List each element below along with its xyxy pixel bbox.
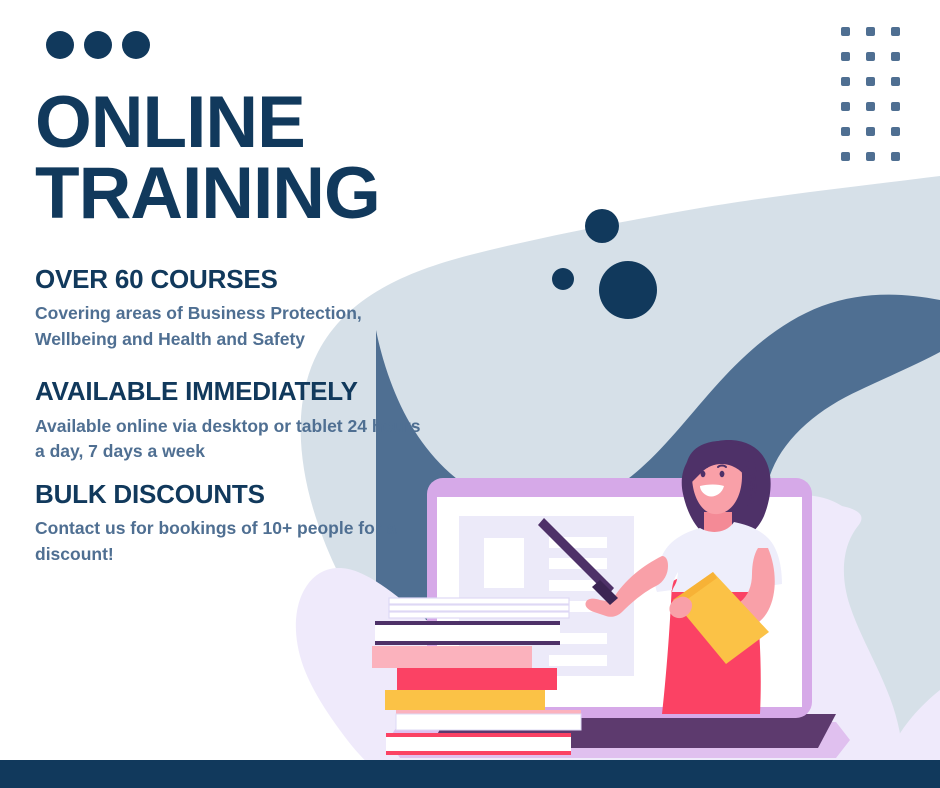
grid-dot-icon (891, 152, 900, 161)
section-heading-availability: AVAILABLE IMMEDIATELY (35, 376, 465, 406)
section-body-availability: Available online via desktop or tablet 2… (35, 414, 427, 465)
grid-dot-icon (866, 52, 875, 61)
section-heading-courses: OVER 60 COURSES (35, 264, 465, 294)
grid-dot-icon (891, 27, 900, 36)
section-body-courses: Covering areas of Business Protection, W… (35, 301, 427, 352)
poster-canvas: ONLINE TRAINING OVER 60 COURSES Covering… (0, 0, 940, 788)
bottom-bar (0, 760, 940, 788)
dot-icon (46, 31, 74, 59)
grid-dot-icon (866, 27, 875, 36)
grid-dot-icon (866, 102, 875, 111)
title-line-1: ONLINE (35, 88, 465, 159)
grid-dot-icon (891, 127, 900, 136)
grid-dot-icon (866, 152, 875, 161)
grid-dot-icon (866, 77, 875, 86)
grid-dot-icon (841, 127, 850, 136)
section-courses: OVER 60 COURSES Covering areas of Busine… (35, 264, 465, 353)
section-discounts: BULK DISCOUNTS Contact us for bookings o… (35, 479, 465, 568)
dot-icon (84, 31, 112, 59)
title-line-2: TRAINING (35, 159, 465, 230)
grid-dot-icon (841, 102, 850, 111)
grid-dot-icon (841, 77, 850, 86)
grid-dot-icon (866, 127, 875, 136)
grid-dot-icon (841, 152, 850, 161)
navy-circle-medium (585, 209, 619, 243)
grid-dot-icon (891, 77, 900, 86)
navy-circle-small (552, 268, 574, 290)
grid-dot-icon (891, 102, 900, 111)
three-dot-accent (46, 31, 150, 59)
text-column: ONLINE TRAINING OVER 60 COURSES Covering… (35, 88, 465, 591)
section-body-discounts: Contact us for bookings of 10+ people fo… (35, 516, 427, 567)
page-title: ONLINE TRAINING (35, 88, 465, 230)
section-heading-discounts: BULK DISCOUNTS (35, 479, 465, 509)
dot-icon (122, 31, 150, 59)
grid-dot-icon (891, 52, 900, 61)
section-availability: AVAILABLE IMMEDIATELY Available online v… (35, 376, 465, 465)
grid-dot-icon (841, 27, 850, 36)
dot-grid-accent (841, 27, 916, 177)
grid-dot-icon (841, 52, 850, 61)
navy-circle-large (599, 261, 657, 319)
